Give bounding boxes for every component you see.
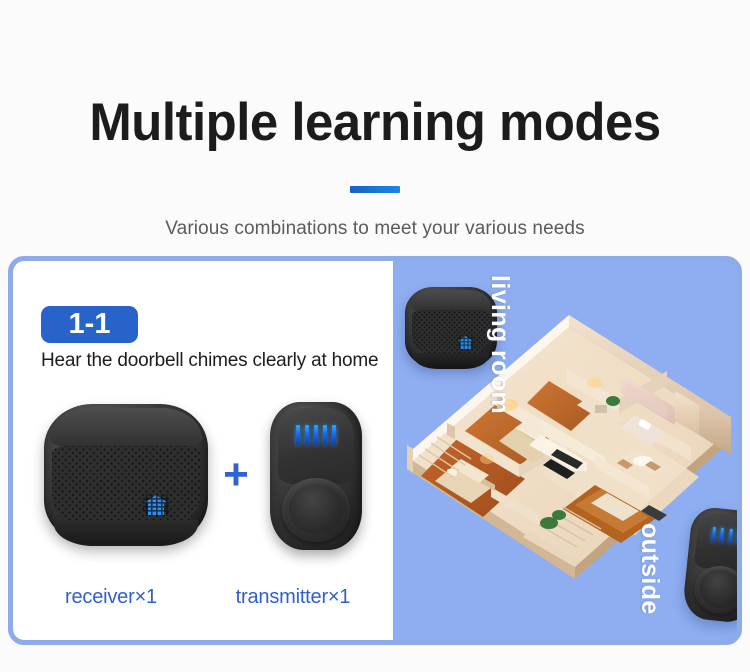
scene-receiver-speaker-grille bbox=[412, 310, 490, 356]
mode-tagline: Hear the doorbell chimes clearly at home bbox=[41, 350, 378, 372]
transmitter-faceplate bbox=[278, 408, 354, 484]
scene-transmitter-device bbox=[675, 503, 737, 629]
receiver-speaker-grille bbox=[52, 446, 200, 530]
house-scene: living room outside bbox=[393, 261, 737, 640]
label-living-room: living room bbox=[485, 275, 514, 414]
led-bars-icon bbox=[711, 526, 737, 545]
mode-badge: 1-1 bbox=[41, 306, 138, 343]
receiver-base bbox=[54, 520, 198, 546]
plus-icon: + bbox=[214, 453, 258, 503]
page-header: Multiple learning modes Various combinat… bbox=[0, 0, 750, 240]
house-led-icon bbox=[143, 494, 169, 516]
led-bars-icon bbox=[296, 424, 336, 446]
learning-mode-panel: 1-1 Hear the doorbell chimes clearly at … bbox=[8, 256, 742, 645]
receiver-device bbox=[40, 402, 212, 554]
label-outside: outside bbox=[635, 523, 664, 615]
scene-receiver-base bbox=[413, 353, 489, 369]
receiver-top-band bbox=[50, 408, 202, 448]
receiver-caption: receiver×1 bbox=[13, 586, 203, 609]
transmitter-push-button[interactable] bbox=[282, 478, 350, 542]
mode-card: 1-1 Hear the doorbell chimes clearly at … bbox=[13, 261, 393, 640]
page-title: Multiple learning modes bbox=[15, 12, 735, 152]
house-led-icon bbox=[457, 335, 474, 350]
transmitter-device bbox=[260, 398, 372, 558]
device-captions: receiver×1 transmitter×1 bbox=[13, 586, 393, 609]
page-subtitle: Various combinations to meet your variou… bbox=[0, 193, 750, 240]
transmitter-caption: transmitter×1 bbox=[203, 586, 393, 609]
title-accent-bar bbox=[350, 186, 400, 193]
scene-receiver-top-band bbox=[411, 290, 491, 312]
device-row: + bbox=[13, 383, 393, 573]
